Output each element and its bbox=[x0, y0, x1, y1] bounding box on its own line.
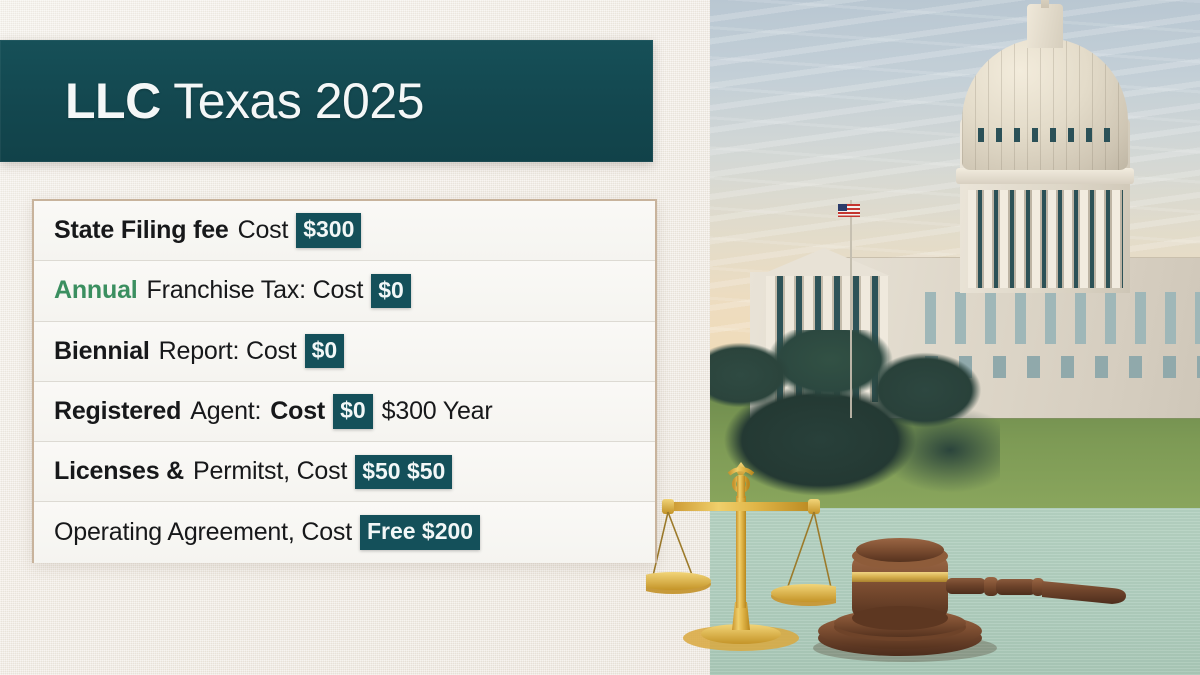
row-label: Biennial bbox=[54, 337, 150, 366]
table-row[interactable]: Licenses & Permitst, Cost $50 $50 bbox=[34, 442, 655, 502]
table-row[interactable]: Annual Franchise Tax: Cost $0 bbox=[34, 261, 655, 321]
row-label: Registered bbox=[54, 397, 181, 426]
row-label: Licenses & bbox=[54, 457, 184, 486]
row-middle: Agent: bbox=[190, 397, 261, 426]
title-bar: LLC Texas 2025 bbox=[0, 40, 653, 162]
page-title: LLC Texas 2025 bbox=[65, 72, 424, 130]
cost-badge: $300 bbox=[296, 213, 361, 247]
dome-windows bbox=[972, 128, 1118, 142]
american-flag-icon bbox=[838, 204, 860, 217]
row-middle-secondary: Cost bbox=[270, 397, 325, 426]
flagpole bbox=[850, 200, 852, 418]
row-label: Annual bbox=[54, 276, 138, 305]
table-row[interactable]: Biennial Report: Cost $0 bbox=[34, 322, 655, 382]
table-row[interactable]: State Filing fee Cost $300 bbox=[34, 201, 655, 261]
cost-badge: $0 bbox=[371, 274, 411, 308]
row-middle: Permitst, Cost bbox=[193, 457, 347, 486]
gavel-icon bbox=[800, 528, 1130, 663]
row-tail: $300 Year bbox=[382, 397, 493, 426]
row-middle: Operating Agreement, Cost bbox=[54, 518, 352, 547]
fee-table-card: State Filing fee Cost $300 Annual Franch… bbox=[32, 199, 657, 563]
table-row[interactable]: Registered Agent: Cost $0 $300 Year bbox=[34, 382, 655, 442]
cost-badge: $50 $50 bbox=[355, 455, 452, 489]
pediment bbox=[758, 248, 890, 276]
dome-drum-columns bbox=[968, 190, 1123, 288]
row-middle: Cost bbox=[238, 216, 289, 245]
row-middle: Report: Cost bbox=[159, 337, 297, 366]
cost-badge: $0 bbox=[333, 394, 373, 428]
title-regular-part: Texas 2025 bbox=[161, 73, 424, 129]
cost-badge: $0 bbox=[305, 334, 345, 368]
dome-finial bbox=[1041, 0, 1049, 8]
row-label: State Filing fee bbox=[54, 216, 229, 245]
cost-badge: Free $200 bbox=[360, 515, 480, 549]
dome-cornice-ring bbox=[956, 168, 1134, 184]
title-bold-part: LLC bbox=[65, 73, 161, 129]
table-row[interactable]: Operating Agreement, Cost Free $200 bbox=[34, 502, 655, 562]
dome-lantern bbox=[1027, 4, 1063, 48]
row-middle: Franchise Tax: Cost bbox=[147, 276, 364, 305]
